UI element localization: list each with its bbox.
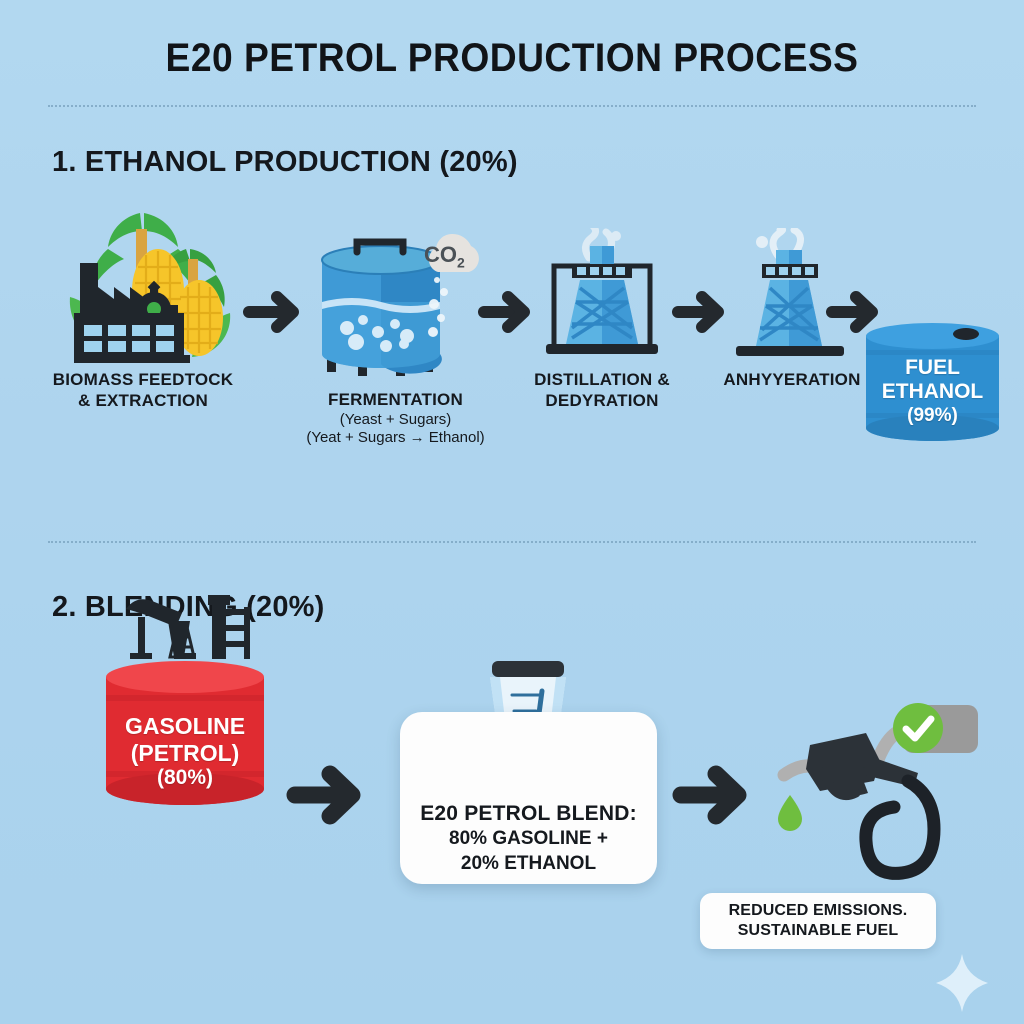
caption-fermentation-line2: (Yeast + Sugars) <box>258 411 533 429</box>
blue-fuel-drum-icon: FUEL ETHANOL (99%) <box>860 316 1005 456</box>
emissions-caption-line2: SUSTAINABLE FUEL <box>738 921 898 941</box>
sparkle-icon <box>934 952 990 1019</box>
section-heading-ethanol-production: 1. ETHANOL PRODUCTION (20%) <box>52 146 518 179</box>
blend-result-card: E20 PETROL BLEND: 80% GASOLINE + 20% ETH… <box>400 712 657 884</box>
caption-biomass: BIOMASS FEEDTOCK & EXTRACTION <box>18 370 268 411</box>
emissions-caption-line1: REDUCED EMISSIONS. <box>729 901 908 921</box>
caption-distillation-line1: DISTILLATION & <box>492 370 712 391</box>
blend-card-line2: 80% GASOLINE + <box>400 827 657 852</box>
arrow-right-1 <box>243 288 305 341</box>
gasoline-drum-line3: (80%) <box>100 766 270 790</box>
arrow-right-2 <box>478 288 536 341</box>
caption-biomass-line2: & EXTRACTION <box>18 391 268 412</box>
fuel-drum-label: FUEL ETHANOL (99%) <box>860 356 1005 427</box>
arrow-right-5 <box>286 760 372 835</box>
page-title: E20 PETROL PRODUCTION PROCESS <box>36 36 988 81</box>
gasoline-drum-label: GASOLINE (PETROL) (80%) <box>100 713 270 791</box>
caption-biomass-line1: BIOMASS FEEDTOCK <box>18 370 268 391</box>
gasoline-drum-line2: (PETROL) <box>100 740 270 767</box>
blend-card-text: E20 PETROL BLEND: 80% GASOLINE + 20% ETH… <box>400 800 657 877</box>
fuel-drum-line3: (99%) <box>860 405 1005 427</box>
divider-top <box>48 105 976 107</box>
blend-card-line1: E20 PETROL BLEND: <box>400 800 657 827</box>
fuel-nozzle-icon <box>768 695 998 900</box>
arrow-right-6 <box>672 760 758 835</box>
divider-middle <box>48 541 976 543</box>
distillation-tower-icon <box>532 228 672 373</box>
red-gasoline-drum-icon: GASOLINE (PETROL) (80%) <box>100 655 270 825</box>
caption-distillation-line2: DEDYRATION <box>492 391 712 412</box>
blend-card-line3: 20% ETHANOL <box>400 852 657 877</box>
caption-distillation: DISTILLATION & DEDYRATION <box>492 370 712 411</box>
caption-fermentation-line3: (Yeat + Sugars → Ethanol) <box>258 429 533 447</box>
gasoline-drum-line1: GASOLINE <box>100 713 270 740</box>
fuel-drum-line1: FUEL <box>860 356 1005 380</box>
co2-label: CO2 <box>424 242 465 270</box>
emissions-caption: REDUCED EMISSIONS. SUSTAINABLE FUEL <box>700 893 936 949</box>
fuel-drum-line2: ETHANOL <box>860 380 1005 404</box>
biomass-factory-corn-icon <box>52 205 237 370</box>
infographic-canvas: E20 PETROL PRODUCTION PROCESS 1. ETHANOL… <box>0 0 1024 1024</box>
